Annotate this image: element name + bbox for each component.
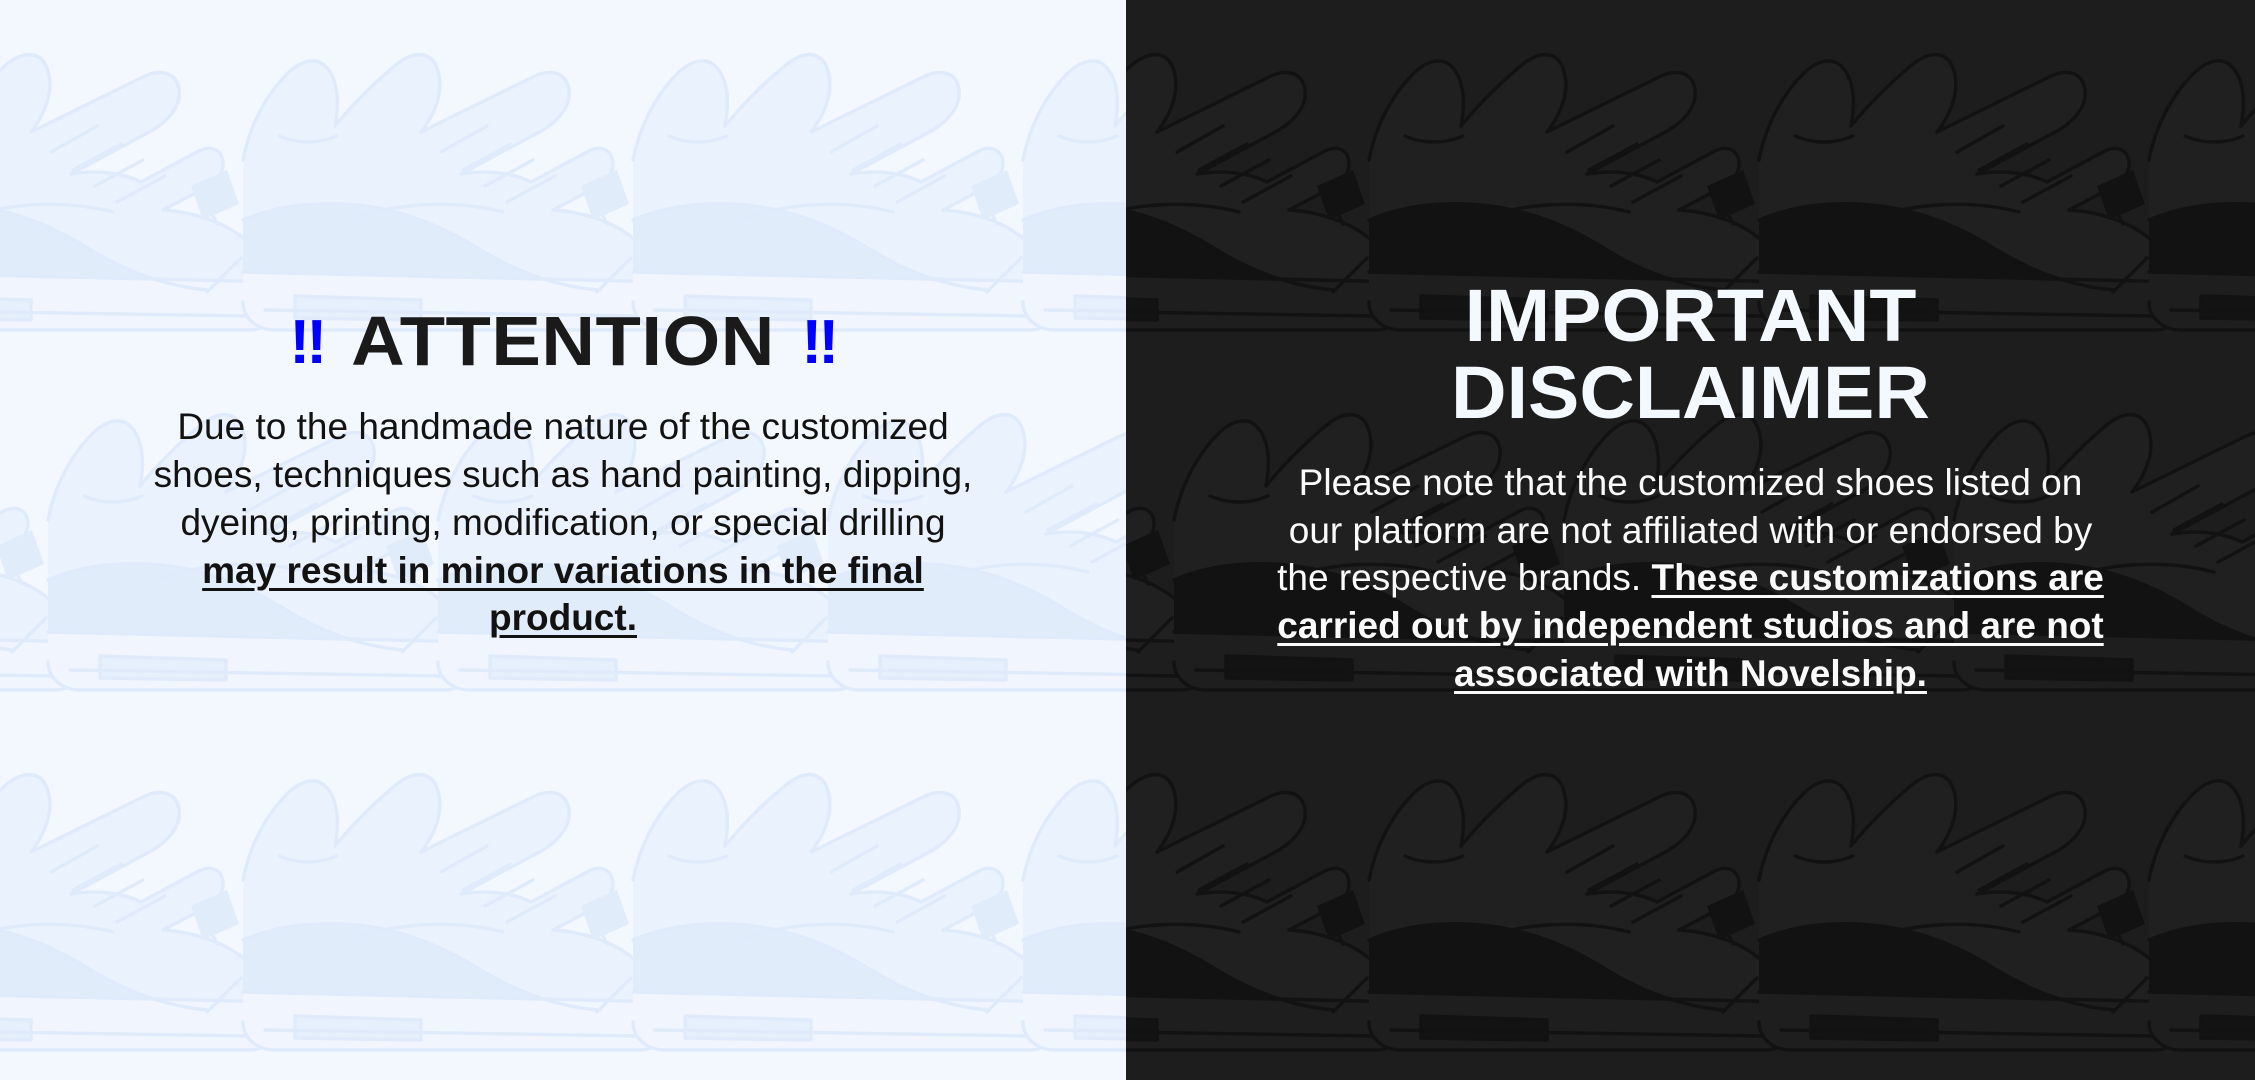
- double-exclamation-right-icon: ‼: [801, 311, 837, 374]
- attention-body-emphasis: may result in minor variations in the fi…: [202, 550, 924, 639]
- disclaimer-heading: IMPORTANT DISCLAIMER: [1126, 278, 2255, 430]
- disclaimer-content: IMPORTANT DISCLAIMER Please note that th…: [1126, 278, 2255, 801]
- disclaimer-heading-line-1: IMPORTANT: [1126, 278, 2255, 354]
- disclaimer-body: Please note that the customized shoes li…: [1271, 459, 2111, 698]
- disclaimer-heading-line-2: DISCLAIMER: [1126, 355, 2255, 431]
- attention-body: Due to the handmade nature of the custom…: [153, 403, 973, 642]
- attention-heading-text: ATTENTION: [351, 302, 775, 380]
- disclaimer-panel: IMPORTANT DISCLAIMER Please note that th…: [1126, 0, 2255, 1080]
- attention-heading: ‼ATTENTION‼: [0, 306, 1126, 377]
- attention-content: ‼ATTENTION‼ Due to the handmade nature o…: [0, 306, 1126, 774]
- double-exclamation-left-icon: ‼: [289, 311, 325, 374]
- attention-body-lead: Due to the handmade nature of the custom…: [154, 406, 973, 542]
- attention-panel: ‼ATTENTION‼ Due to the handmade nature o…: [0, 0, 1126, 1080]
- split-banner: ‼ATTENTION‼ Due to the handmade nature o…: [0, 0, 2255, 1080]
